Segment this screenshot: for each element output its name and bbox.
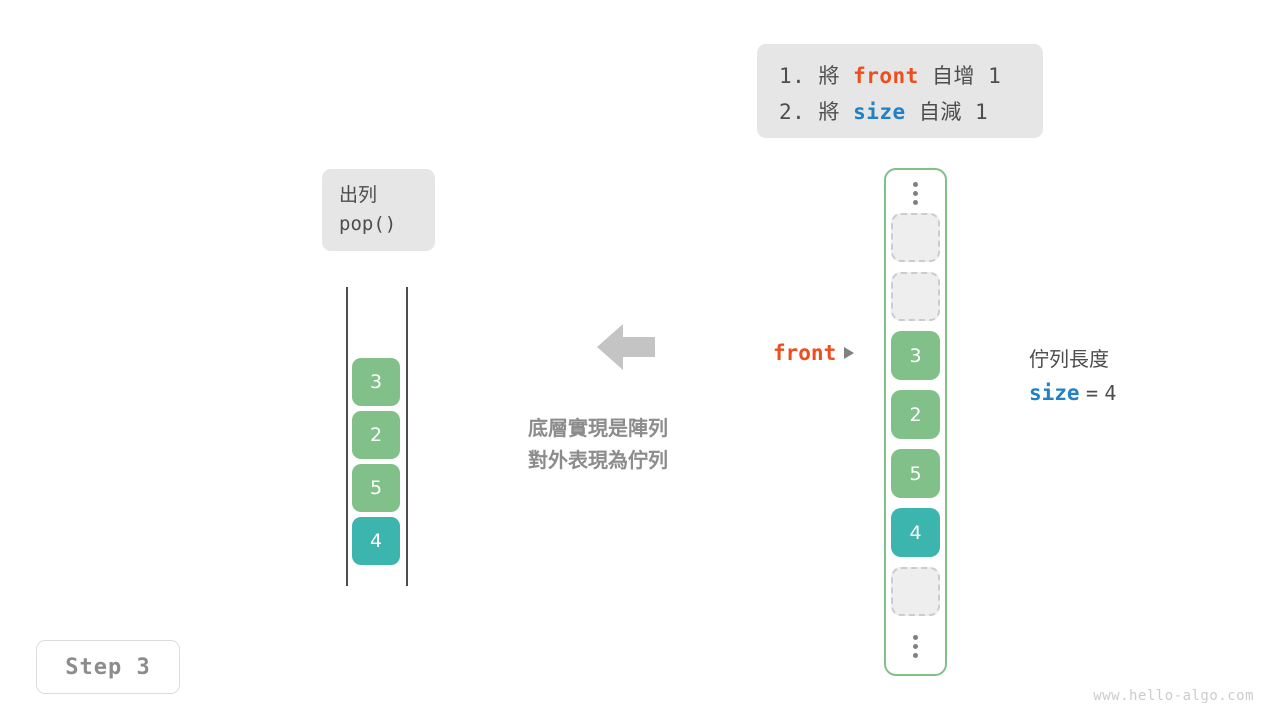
size-variable-name: size	[1029, 381, 1080, 405]
watermark: www.hello-algo.com	[1093, 688, 1254, 704]
operation-line-2: 2. 將 size 自減 1	[779, 94, 1021, 130]
operation-line-2-prefix: 將	[818, 100, 840, 124]
array-cells: 3 2 5 4	[891, 173, 940, 666]
ellipsis-top-icon	[891, 173, 940, 213]
pop-operation-label: 出列 pop()	[322, 169, 435, 251]
arrow-left-icon	[597, 324, 655, 370]
size-equals-sign: =	[1086, 381, 1098, 405]
caption-line-1: 底層實現是陣列	[528, 412, 728, 444]
explanation-caption: 底層實現是陣列 對外表現為佇列	[528, 412, 728, 476]
front-pointer: front	[773, 341, 854, 365]
array-cell: 3	[891, 331, 940, 380]
triangle-right-icon	[844, 347, 854, 359]
size-annotation-title: 佇列長度	[1029, 342, 1116, 376]
queue-cell: 4	[352, 517, 400, 565]
queue-cell: 5	[352, 464, 400, 512]
array-cell-empty	[891, 213, 940, 262]
array-cell-empty	[891, 567, 940, 616]
size-annotation-expression: size = 4	[1029, 376, 1116, 410]
caption-line-2: 對外表現為佇列	[528, 444, 728, 476]
queue-cell: 3	[352, 358, 400, 406]
operation-line-1-keyword: front	[853, 64, 919, 88]
operation-callout: 1. 將 front 自增 1 2. 將 size 自減 1	[757, 44, 1043, 138]
operation-line-2-value: 1	[975, 100, 988, 124]
front-pointer-label: front	[773, 341, 836, 365]
pop-label-title: 出列	[339, 181, 435, 210]
operation-line-1-value: 1	[988, 64, 1001, 88]
operation-line-1-prefix: 將	[818, 64, 840, 88]
operation-line-2-suffix: 自減	[919, 100, 962, 124]
queue-rail-left	[346, 287, 348, 586]
diagram-canvas: 1. 將 front 自增 1 2. 將 size 自減 1 出列 pop() …	[0, 0, 1280, 720]
ellipsis-bottom-icon	[891, 626, 940, 666]
size-value: 4	[1104, 381, 1116, 405]
operation-line-2-number: 2.	[779, 100, 805, 124]
step-badge: Step 3	[36, 640, 180, 694]
array-cell: 2	[891, 390, 940, 439]
operation-line-1-suffix: 自增	[932, 64, 975, 88]
abstract-queue-cells: 3 2 5 4	[352, 358, 400, 570]
operation-line-1-number: 1.	[779, 64, 805, 88]
operation-line-1: 1. 將 front 自增 1	[779, 58, 1021, 94]
array-cell: 4	[891, 508, 940, 557]
array-cell: 5	[891, 449, 940, 498]
operation-line-2-keyword: size	[853, 100, 906, 124]
array-cell-empty	[891, 272, 940, 321]
pop-label-method: pop()	[339, 210, 435, 239]
queue-cell: 2	[352, 411, 400, 459]
step-badge-label: Step 3	[65, 655, 150, 680]
queue-rail-right	[406, 287, 408, 586]
queue-size-annotation: 佇列長度 size = 4	[1029, 342, 1116, 410]
